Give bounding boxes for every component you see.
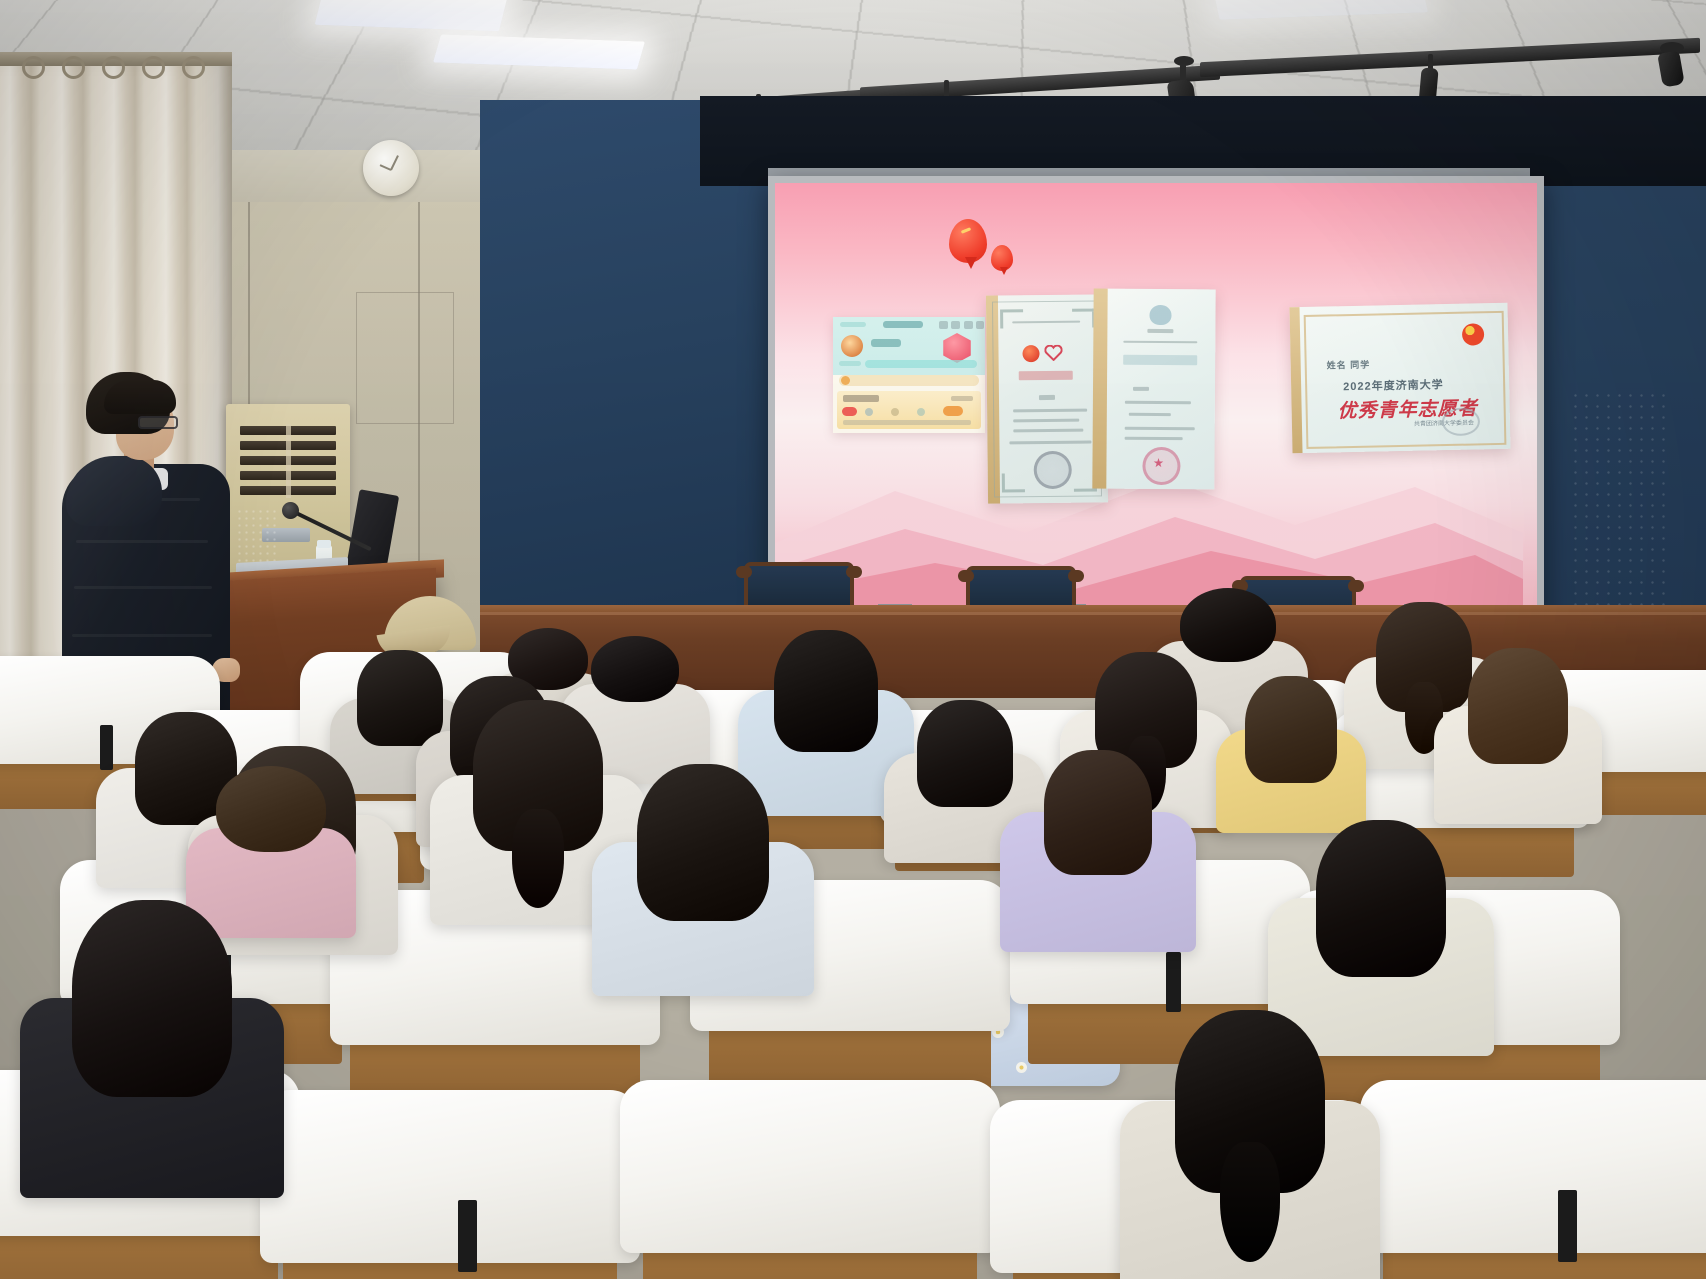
curtain-ring [102,56,125,79]
app-icon-captions [843,420,971,425]
app-tag-hot [842,407,857,416]
wall-clock [363,140,419,196]
app-icon-row-2 [891,408,899,416]
attendee-hair [637,764,769,921]
curtain-ring [62,56,85,79]
app-user-avatar [841,335,863,357]
seat-cover [260,1090,640,1263]
auditorium-photo: 姓名 同学 2022年度济南大学 优秀青年志愿者 共青团济南大学委员会 [0,0,1706,1279]
app-title-text [883,321,923,328]
certificate-2-seal [1142,447,1180,485]
attendee-hair [216,766,326,852]
certificate-1-name [1039,395,1055,400]
attendee-hair [591,636,679,702]
seat-strap [1558,1190,1577,1262]
certificate-2-body-2 [1125,401,1191,404]
attendee-hair [1468,648,1568,764]
attendee-ponytail [1220,1142,1280,1262]
app-progress-label [839,361,861,366]
attendee-17 [1120,1010,1380,1279]
certificate-3-gold-edge [1289,307,1302,453]
volunteer-app-screenshot [833,317,985,433]
attendee-hair [1044,750,1152,875]
certificate-2-body-5 [1125,437,1183,440]
certificate-2-gold-edge [1092,289,1107,489]
certificate-volunteer-service [986,294,1108,503]
microphone-head-icon [282,502,299,519]
app-icon-row-3 [917,408,925,416]
app-icon-4 [976,321,984,329]
auditorium-seat[interactable] [620,1080,1000,1279]
app-username [871,339,901,347]
app-progress-bar [865,360,977,368]
seat-cover [1360,1080,1706,1253]
curtain-ring [182,56,205,79]
certificate-2-body-3 [1129,413,1171,416]
certificate-1-corner-bl [1002,473,1025,492]
attendee-ponytail [512,809,564,908]
curtain-ring [22,56,45,79]
certificate-2-logo-caption [1147,329,1173,333]
auditorium-seat[interactable] [1360,1080,1706,1279]
projection-screen[interactable]: 姓名 同学 2022年度济南大学 优秀青年志愿者 共青团济南大学委员会 [768,176,1544,620]
attendee-15 [1434,648,1602,846]
wall-panel-outline [356,292,454,424]
certificate-youth-league [1104,289,1215,490]
app-activity-title [843,395,879,402]
certificate-1-title [1019,371,1073,381]
app-tag-badge [943,406,963,416]
balloon-small-tail [1000,267,1008,275]
certificate-3-year-line: 2022年度济南大学 [1343,376,1444,394]
certificate-2-body-1 [1133,387,1149,391]
certificate-1-emblem-icon [1022,345,1039,362]
track-bar-right [1200,38,1700,77]
seat-cover [620,1080,1000,1253]
app-icon-1 [939,321,948,329]
app-icon-2 [951,321,960,329]
attendee-hair [774,630,878,752]
certificate-3-name-line: 姓名 同学 [1327,358,1371,372]
app-service-row [839,375,979,386]
ac-louver-divider [286,424,291,498]
certificate-2-logo-icon [1149,305,1171,325]
app-service-icon [841,376,850,385]
attendee-hair [1245,676,1337,783]
attendee-hair [1316,820,1446,977]
app-icon-row-1 [865,408,873,416]
app-status-left [840,322,866,327]
attendee-hair [917,700,1013,807]
certificate-1-corner-tr [1072,308,1095,327]
attendee-hair [1180,588,1276,662]
certificate-2-body-4 [1125,427,1195,430]
certificate-2-rule [1123,341,1197,344]
audience [0,560,1706,1279]
balloon-large-tail [965,257,977,269]
certificate-2-title [1123,355,1197,366]
certificate-outstanding-youth-volunteer: 姓名 同学 2022年度济南大学 优秀青年志愿者 共青团济南大学委员会 [1289,303,1510,454]
app-activity-more [951,396,973,401]
presenter-fringe [104,380,176,414]
seat-strap [458,1200,477,1272]
certificate-1-seal [1034,451,1072,489]
attendee-7 [592,764,814,1026]
attendee-hair [72,900,232,1097]
certificate-1-heart-icon [1044,345,1062,361]
app-icon-3 [964,321,973,329]
certificate-1-corner-tl [1000,309,1023,328]
curtain-ring [142,56,165,79]
attendee-18 [20,900,284,1236]
water-bottle-cap [317,540,331,548]
attendee-11 [1000,750,1196,976]
projected-slide: 姓名 同学 2022年度济南大学 优秀青年志愿者 共青团济南大学委员会 [775,183,1537,613]
glasses-icon [138,416,178,429]
auditorium-seat[interactable] [260,1090,640,1279]
presenter-hood [66,456,162,526]
